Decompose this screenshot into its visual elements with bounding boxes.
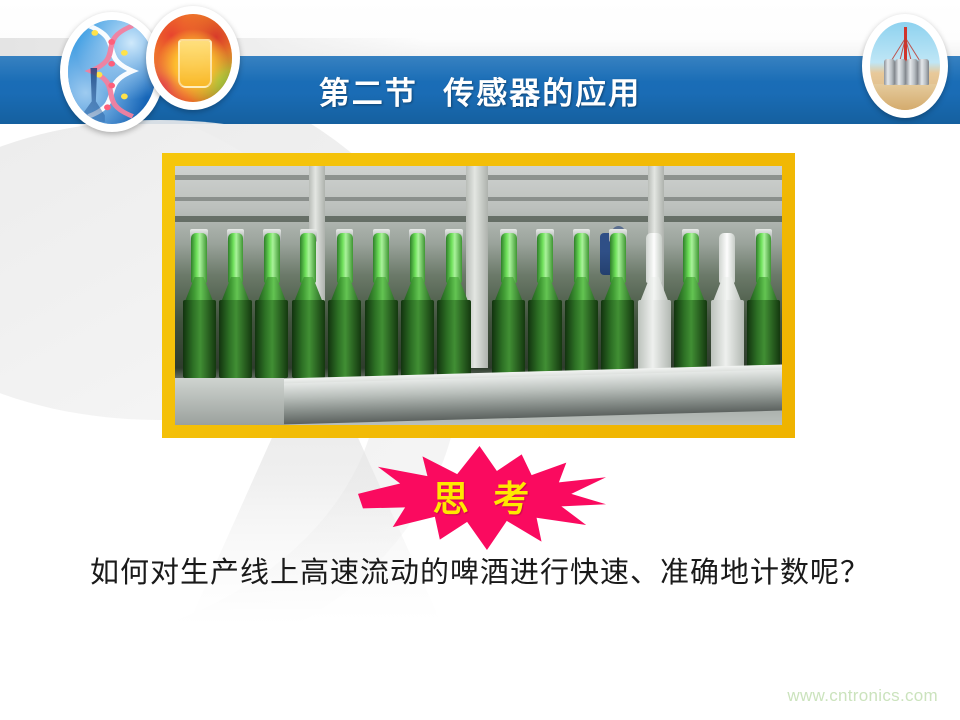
bottle-white (636, 233, 672, 378)
bottle-neck (446, 233, 462, 282)
fruit-juice-badge-image (154, 14, 232, 102)
bottle-body (255, 300, 288, 378)
slide-canvas: 第二节 传感器的应用 (0, 0, 960, 720)
bottle-body (565, 300, 598, 378)
production-line-photo (175, 166, 782, 425)
silo-tank-4 (918, 59, 929, 85)
bottle-row (175, 233, 782, 378)
bottle-neck (610, 233, 626, 282)
machine-housing (175, 378, 284, 425)
bottle-neck (191, 233, 207, 282)
bottle (491, 233, 527, 378)
bottle (327, 233, 363, 378)
bottle (527, 233, 563, 378)
site-watermark: www.cntronics.com (787, 686, 938, 706)
bottle-neck (300, 233, 316, 282)
bottle-body (528, 300, 561, 378)
think-starburst: 思 考 (358, 446, 606, 550)
question-text: 如何对生产线上高速流动的啤酒进行快速、准确地计数呢？ (0, 549, 960, 591)
production-line-photo-frame (162, 153, 795, 438)
bottle-neck (410, 233, 426, 282)
bottle (400, 233, 436, 378)
bottle-neck (646, 233, 662, 282)
bottle (673, 233, 709, 378)
bottle (563, 233, 599, 378)
fruit-juice-badge (146, 6, 240, 110)
bottle-neck (337, 233, 353, 282)
bottle (181, 233, 217, 378)
grain-silo-badge-image (870, 22, 940, 110)
bottle-body (219, 300, 252, 378)
bottle-neck (574, 233, 590, 282)
bottle (290, 233, 326, 378)
think-label: 思 考 (358, 446, 606, 550)
bottle (746, 233, 782, 378)
bottle-white (709, 233, 745, 378)
dna-microscope-badge-image (68, 20, 156, 124)
bottle-neck (228, 233, 244, 282)
bottle-body (492, 300, 525, 378)
bottle (600, 233, 636, 378)
bottle (254, 233, 290, 378)
bottle-neck (537, 233, 553, 282)
bottle-body (437, 300, 470, 378)
bottle-body (601, 300, 634, 378)
silo-ground (870, 84, 940, 110)
bottle-body (638, 300, 671, 378)
bottle (363, 233, 399, 378)
silo-tank-2 (895, 59, 906, 85)
bottle-body (401, 300, 434, 378)
bottle-neck (264, 233, 280, 282)
bottle-body (292, 300, 325, 378)
bottle-neck (756, 233, 772, 282)
bottle-neck (683, 233, 699, 282)
bottle (436, 233, 472, 378)
juice-glass-icon (178, 39, 212, 89)
bottle-neck (719, 233, 735, 282)
bottle-body (183, 300, 216, 378)
bottle-neck (373, 233, 389, 282)
bottle (217, 233, 253, 378)
grain-silo-badge (862, 14, 948, 118)
bottle-body (328, 300, 361, 378)
bottle-neck (501, 233, 517, 282)
silo-tank-1 (884, 59, 895, 85)
silo-tank-3 (906, 59, 917, 85)
bottle-body (365, 300, 398, 378)
